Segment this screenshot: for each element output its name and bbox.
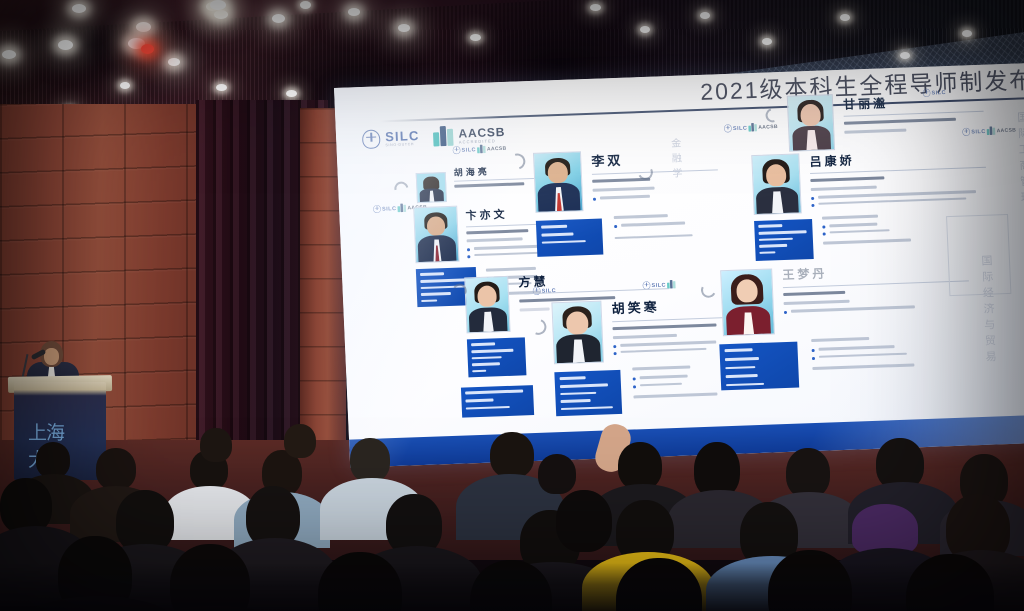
avatar — [416, 172, 447, 203]
ceiling-light — [398, 24, 410, 32]
student-footer-line — [615, 234, 693, 239]
audience-member — [200, 428, 232, 462]
audience-member — [284, 424, 316, 458]
student-line — [621, 222, 685, 227]
name-underline — [592, 169, 718, 175]
info-heading-line — [758, 224, 782, 228]
info-line — [726, 374, 758, 378]
faculty-title-line — [783, 291, 845, 296]
avatar — [751, 153, 802, 215]
watermark-text: SILC — [461, 146, 476, 152]
info-line — [726, 382, 764, 386]
info-line — [561, 399, 591, 403]
side-label-management: 国际工商管理 — [1014, 111, 1024, 207]
research-heading-line — [520, 307, 550, 311]
research-heading-line — [613, 334, 677, 339]
info-line — [421, 292, 451, 296]
info-heading-line — [725, 348, 753, 352]
student-requirements — [811, 335, 914, 369]
student-requirements — [614, 213, 693, 239]
silc-logo-text: SILC — [385, 128, 420, 142]
avatar — [413, 206, 459, 264]
student-heading-line — [614, 214, 668, 219]
avatar — [533, 151, 584, 213]
audience-member — [490, 432, 534, 478]
faculty-name: 方慧 — [518, 268, 669, 290]
research-heading-line — [811, 186, 877, 191]
info-line — [561, 406, 613, 410]
student-line — [819, 345, 895, 350]
ceiling-light — [762, 38, 772, 45]
silc-crest-icon — [724, 124, 732, 132]
research-bullet-line — [791, 305, 915, 312]
aacsb-logo-text: AACSB — [458, 125, 505, 139]
student-requirements — [822, 213, 911, 244]
audience-member — [36, 442, 70, 478]
student-line — [640, 375, 688, 379]
slide-watermark-logo: SILC AACSB — [453, 144, 507, 154]
speaker-face — [44, 348, 59, 365]
aacsb-logo: AACSB ACCREDITED — [433, 124, 505, 147]
audience — [0, 420, 1024, 611]
watermark-text: SILC — [382, 205, 397, 211]
presentation-screen[interactable]: 2021级本科生全程导师制发布 SILC SINO-DUTCH AACSB AC… — [334, 63, 1024, 468]
ceiling-light — [120, 82, 130, 89]
research-heading-line — [467, 237, 523, 242]
ceiling-light — [216, 84, 227, 91]
info-heading-line — [560, 376, 586, 380]
ceiling-light — [840, 14, 850, 21]
audience-member — [96, 448, 136, 490]
secondary-info-box — [461, 385, 534, 418]
student-footer-line — [633, 392, 717, 398]
student-requirements — [632, 364, 717, 397]
faculty-title-line — [454, 182, 524, 187]
ceiling-light — [590, 4, 601, 11]
ceiling-light — [700, 12, 710, 19]
info-line — [465, 398, 493, 401]
research-heading-line — [784, 300, 850, 305]
ceiling-light — [136, 22, 151, 32]
info-line — [541, 233, 573, 237]
info-box — [536, 218, 603, 256]
research-bullet-line — [600, 195, 650, 199]
avatar — [464, 276, 510, 334]
ceiling-light — [210, 0, 226, 10]
info-line — [759, 251, 775, 254]
research-bullet-line — [620, 340, 716, 346]
aacsb-bars-icon — [433, 126, 454, 147]
silc-crest-icon — [453, 146, 461, 154]
research-bullet-line — [620, 347, 706, 353]
faculty-title-line — [466, 229, 528, 234]
audience-member — [556, 490, 612, 552]
watermark-text: AACSB — [487, 146, 507, 152]
audience-member — [538, 454, 576, 494]
info-line — [560, 383, 608, 387]
swirl-decoration-icon — [528, 316, 549, 337]
faculty-title-line — [810, 176, 884, 182]
ceiling-light — [168, 58, 180, 66]
avatar — [787, 94, 835, 152]
ceiling-light — [300, 1, 311, 9]
info-line — [759, 230, 807, 234]
aacsb-bars-icon — [748, 123, 757, 132]
faculty-name: 李双 — [591, 146, 718, 169]
info-line — [560, 391, 596, 395]
info-line — [466, 405, 510, 409]
aacsb-bars-icon — [987, 126, 996, 135]
info-line — [465, 389, 523, 394]
ceiling-light — [640, 26, 650, 33]
audience-member — [350, 438, 390, 482]
info-line — [759, 244, 787, 247]
student-line — [640, 382, 682, 386]
audience-member — [618, 442, 662, 490]
student-footer-line — [812, 363, 914, 369]
info-box — [467, 337, 527, 377]
student-heading-line — [486, 267, 536, 272]
audience-member — [786, 448, 830, 498]
auditorium-scene: 2021级本科生全程导师制发布 SILC SINO-DUTCH AACSB AC… — [0, 0, 1024, 611]
student-footer-line — [823, 238, 911, 244]
info-line — [421, 299, 437, 302]
ceiling-light — [214, 10, 228, 19]
info-line — [542, 240, 586, 244]
student-line — [829, 223, 877, 227]
info-box — [754, 219, 814, 261]
faculty-name: 吕康娇 — [809, 147, 986, 170]
student-line — [830, 229, 890, 234]
student-heading-line — [822, 215, 878, 220]
watermark-text: AACSB — [758, 124, 778, 130]
student-heading-line — [811, 337, 869, 342]
audience-member-hat — [852, 504, 918, 554]
info-line — [472, 362, 500, 365]
ceiling-light — [2, 50, 16, 59]
info-heading-line — [420, 272, 444, 276]
aacsb-bars-icon — [398, 203, 407, 212]
ceiling-light — [286, 90, 297, 97]
avatar — [551, 301, 604, 365]
research-bullet-line — [818, 197, 966, 205]
info-line — [759, 237, 793, 241]
ceiling-light — [962, 30, 972, 37]
ceiling-light-red — [141, 44, 154, 54]
research-heading-line — [593, 187, 655, 192]
swirl-decoration-icon — [392, 179, 411, 198]
slide-canvas: 2021级本科生全程导师制发布 SILC SINO-DUTCH AACSB AC… — [334, 63, 1024, 440]
faculty-name: 甘丽瀊 — [843, 91, 984, 113]
info-line — [472, 369, 486, 372]
info-box — [554, 370, 622, 416]
slide-placeholder-frame — [946, 214, 1011, 296]
aacsb-bars-icon — [477, 145, 486, 154]
ceiling-light — [470, 34, 481, 41]
research-bullet-line — [474, 251, 542, 256]
ceiling-light — [272, 14, 285, 23]
ceiling-light — [58, 40, 73, 50]
info-line — [471, 349, 513, 353]
foreground-shadow — [0, 563, 1024, 611]
student-line — [819, 352, 907, 358]
ceiling-light — [348, 8, 360, 16]
info-line — [725, 357, 759, 361]
info-heading-line — [471, 342, 495, 346]
silc-crest-icon — [373, 205, 381, 213]
avatar — [720, 268, 775, 336]
ceiling-light — [72, 4, 86, 13]
student-heading-line — [632, 365, 690, 370]
watermark-text: SILC — [733, 125, 748, 131]
faculty-title-line — [844, 118, 956, 125]
info-line — [420, 278, 466, 282]
faculty-title-line — [612, 323, 716, 330]
silc-logo: SILC SINO-DUTCH — [362, 127, 420, 148]
info-box — [719, 342, 799, 391]
info-line — [472, 356, 502, 360]
research-heading-line — [844, 129, 906, 134]
info-line — [725, 366, 755, 370]
ceiling-light — [900, 52, 910, 59]
faculty-name: 王梦丹 — [782, 259, 969, 283]
slide-watermark-logo: SILC AACSB — [724, 122, 778, 132]
silc-crest-icon — [362, 129, 381, 149]
info-heading-line — [541, 225, 567, 229]
